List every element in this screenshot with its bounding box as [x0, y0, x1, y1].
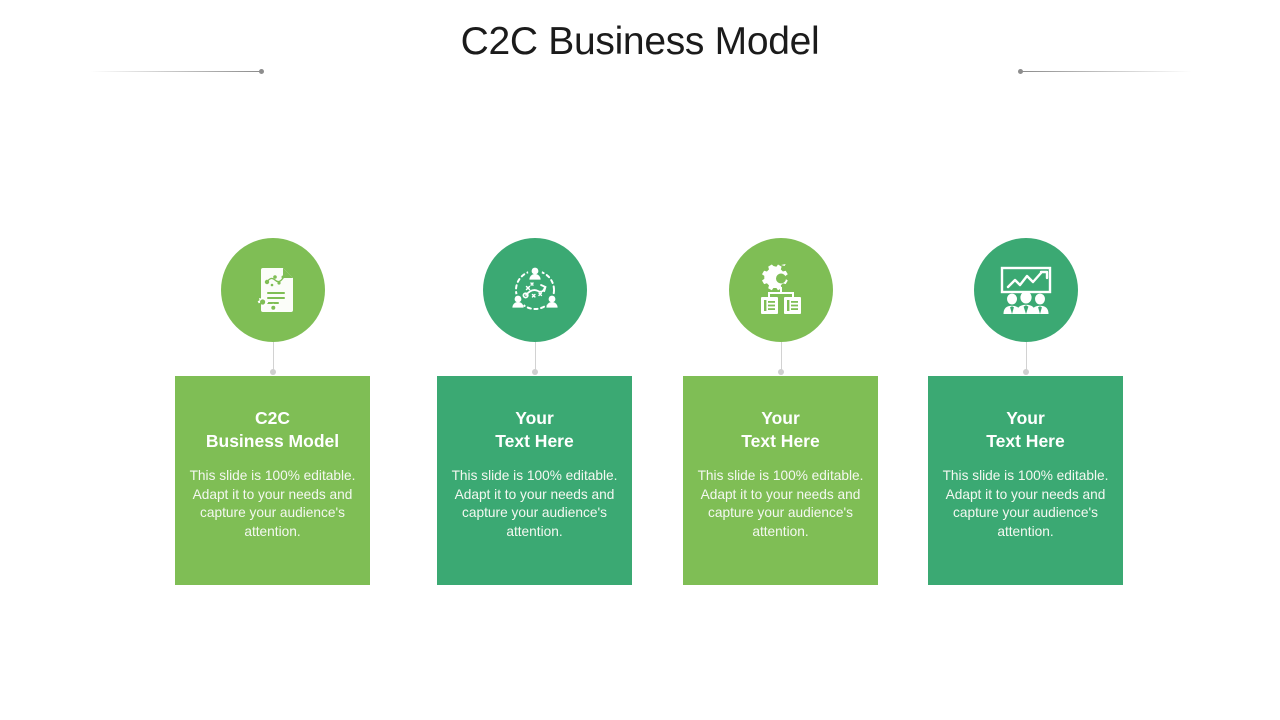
connector-dot	[778, 369, 784, 375]
card-heading: Your Text Here	[450, 407, 619, 453]
connector-line	[1026, 342, 1027, 370]
icon-circle-1[interactable]	[221, 238, 325, 342]
card-body: This slide is 100% editable. Adapt it to…	[450, 467, 619, 542]
connector-dot	[532, 369, 538, 375]
column-3[interactable]: Your Text Here This slide is 100% editab…	[683, 238, 879, 585]
team-strategy-network-icon	[507, 262, 563, 318]
presentation-growth-team-icon	[997, 261, 1055, 319]
card-heading: Your Text Here	[696, 407, 865, 453]
card-body: This slide is 100% editable. Adapt it to…	[941, 467, 1110, 542]
card-body: This slide is 100% editable. Adapt it to…	[696, 467, 865, 542]
connector-line	[273, 342, 274, 370]
card-1[interactable]: C2C Business Model This slide is 100% ed…	[175, 376, 370, 585]
card-2[interactable]: Your Text Here This slide is 100% editab…	[437, 376, 632, 585]
connector-line	[781, 342, 782, 370]
column-group: C2C Business Model This slide is 100% ed…	[0, 0, 1280, 720]
card-body: This slide is 100% editable. Adapt it to…	[188, 467, 357, 542]
connector-4	[928, 342, 1124, 372]
column-2[interactable]: Your Text Here This slide is 100% editab…	[437, 238, 633, 585]
gear-workflow-documents-icon	[753, 262, 809, 318]
icon-circle-3[interactable]	[729, 238, 833, 342]
card-4[interactable]: Your Text Here This slide is 100% editab…	[928, 376, 1123, 585]
card-heading: Your Text Here	[941, 407, 1110, 453]
card-heading: C2C Business Model	[188, 407, 357, 453]
connector-1	[175, 342, 371, 372]
column-4[interactable]: Your Text Here This slide is 100% editab…	[928, 238, 1124, 585]
connector-dot	[270, 369, 276, 375]
connector-2	[437, 342, 633, 372]
icon-circle-4[interactable]	[974, 238, 1078, 342]
column-1[interactable]: C2C Business Model This slide is 100% ed…	[175, 238, 371, 585]
icon-circle-2[interactable]	[483, 238, 587, 342]
connector-line	[535, 342, 536, 370]
card-3[interactable]: Your Text Here This slide is 100% editab…	[683, 376, 878, 585]
document-gears-icon	[245, 262, 301, 318]
connector-dot	[1023, 369, 1029, 375]
connector-3	[683, 342, 879, 372]
